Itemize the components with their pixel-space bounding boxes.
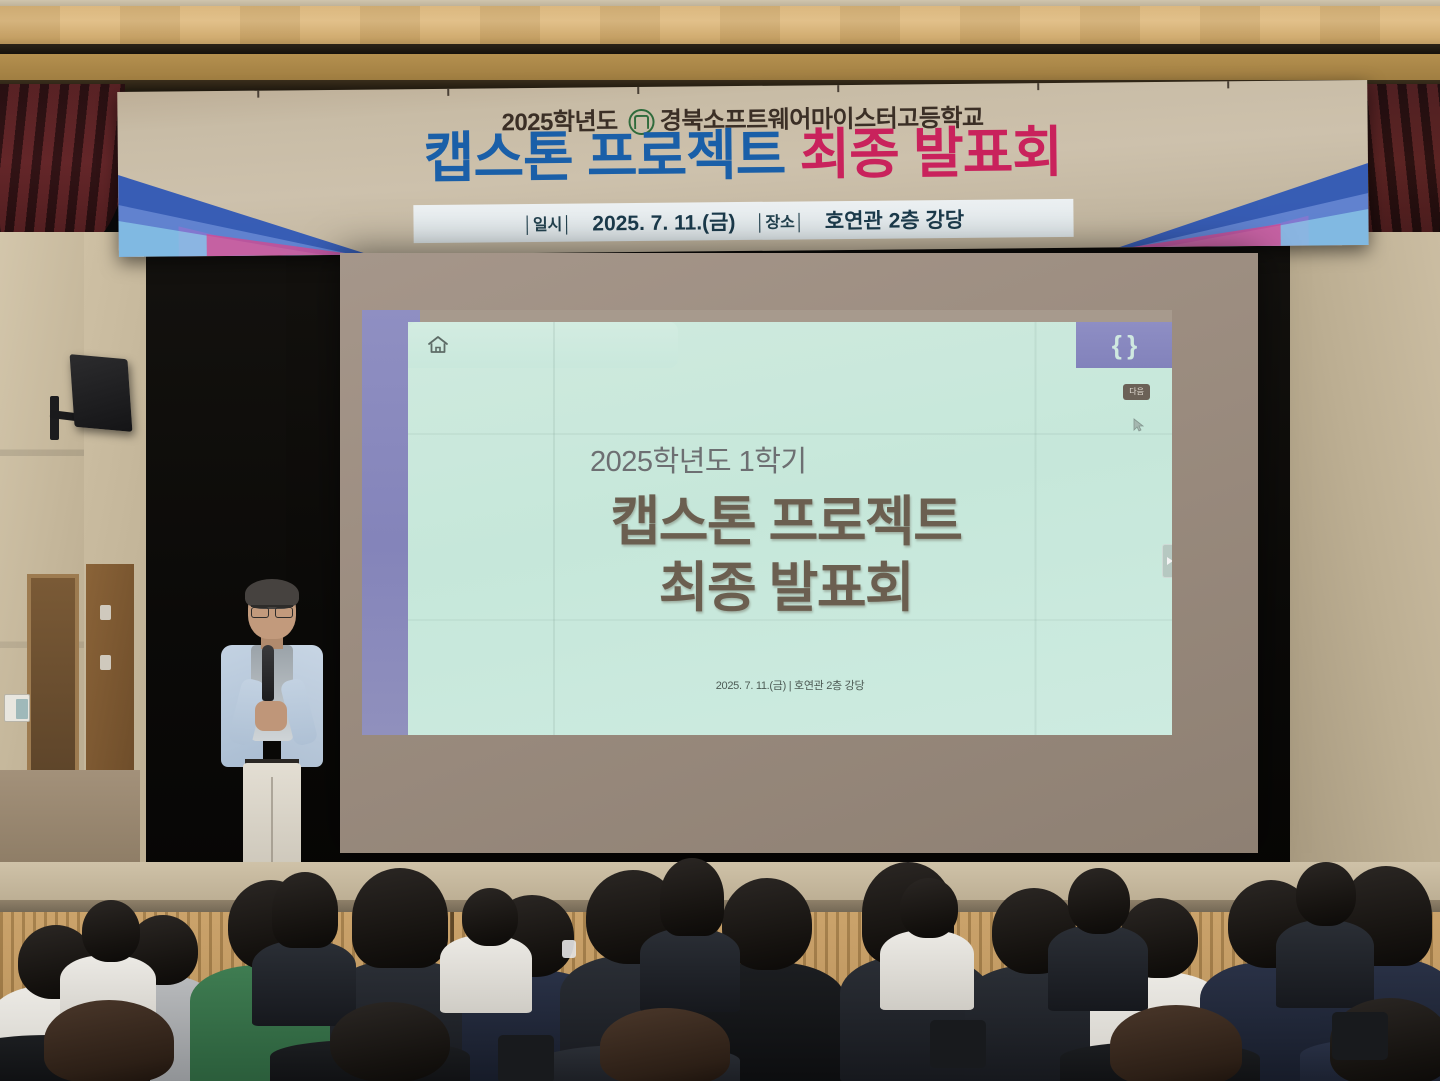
- banner-date-value: 2025. 7. 11.(금): [592, 206, 735, 237]
- audience-head: [330, 1002, 450, 1081]
- brace-logo-text: { }: [1112, 330, 1136, 361]
- banner-title-part1: 캡스톤 프로젝트: [424, 124, 786, 189]
- audience-member: [640, 928, 740, 1012]
- slide-content: { } 2025학년도 1학기 캡스톤 프로젝트 최종 발표회 2025. 7.…: [408, 322, 1172, 735]
- audience-head: [272, 872, 338, 948]
- home-icon[interactable]: [427, 335, 449, 355]
- slide-title-line2: 최종 발표회: [408, 556, 1164, 622]
- projection-screen: { } 2025학년도 1학기 캡스톤 프로젝트 최종 발표회 2025. 7.…: [340, 253, 1258, 853]
- presentation-slide[interactable]: { } 2025학년도 1학기 캡스톤 프로젝트 최종 발표회 2025. 7.…: [362, 310, 1172, 735]
- banner-info-strip: │일시│ 2025. 7. 11.(금) │장소│ 호연관 2층 강당: [413, 199, 1073, 243]
- side-door[interactable]: [86, 564, 134, 780]
- chair: [498, 1035, 554, 1081]
- microphone-icon: [262, 645, 274, 701]
- banner-date-label: │일시│: [523, 211, 573, 235]
- ceiling-wood-panel: [0, 6, 1440, 48]
- slide-title-line1: 캡스톤 프로젝트: [408, 490, 1164, 556]
- audience-head: [900, 878, 958, 938]
- audience-member: [880, 930, 974, 1010]
- glasses-icon: [251, 605, 293, 614]
- audience-member: [1276, 920, 1374, 1008]
- slide-title: 캡스톤 프로젝트 최종 발표회: [408, 490, 1172, 622]
- audience-head: [1110, 1005, 1242, 1081]
- audience-head: [600, 1008, 730, 1081]
- audience-head: [82, 900, 140, 962]
- brace-logo-badge: { }: [1076, 322, 1172, 368]
- side-floor: [0, 770, 140, 875]
- audience-head: [1068, 868, 1130, 934]
- audience-head: [1296, 862, 1356, 926]
- face-mask-icon: [562, 940, 576, 958]
- audience-member: [1048, 925, 1148, 1011]
- wall-speaker: [70, 354, 133, 432]
- play-triangle-icon: [1167, 557, 1172, 565]
- wall-alcove: [27, 574, 79, 776]
- banner-place-value: 호연관 2층 강당: [825, 204, 965, 235]
- presenter: [215, 583, 327, 873]
- banner-place-label: │장소│: [755, 208, 805, 232]
- slide-home-tab[interactable]: [408, 322, 678, 368]
- audience-head: [462, 888, 518, 946]
- slide-eyebrow-text: 2025학년도 1학기: [590, 438, 807, 480]
- mouse-cursor-icon: [1133, 418, 1144, 432]
- audience-member: [252, 940, 356, 1026]
- door-handle-lower[interactable]: [100, 655, 111, 670]
- door-handle-upper[interactable]: [100, 605, 111, 620]
- next-slide-button[interactable]: [1162, 544, 1172, 578]
- presenter-hands: [255, 701, 287, 731]
- audience-head: [352, 868, 448, 968]
- slide-footer-text: 2025. 7. 11.(금) | 호연관 2층 강당: [408, 677, 1172, 693]
- next-tooltip[interactable]: 다음: [1123, 384, 1150, 400]
- chair: [930, 1020, 986, 1068]
- auditorium-scene: 2025학년도 경북소프트웨어마이스터고등학교 캡스톤 프로젝트 최종 발표회 …: [0, 0, 1440, 1081]
- audience-head: [660, 858, 724, 936]
- event-banner: 2025학년도 경북소프트웨어마이스터고등학교 캡스톤 프로젝트 최종 발표회 …: [117, 80, 1369, 257]
- side-wall-right: [1290, 232, 1440, 872]
- presenter-trousers: [243, 763, 301, 873]
- chair: [1332, 1012, 1388, 1060]
- audience-head: [44, 1000, 174, 1081]
- audience-member: [440, 935, 532, 1013]
- wall-control-panel[interactable]: [4, 694, 30, 722]
- banner-title-part2: 최종 발표회: [799, 121, 1062, 186]
